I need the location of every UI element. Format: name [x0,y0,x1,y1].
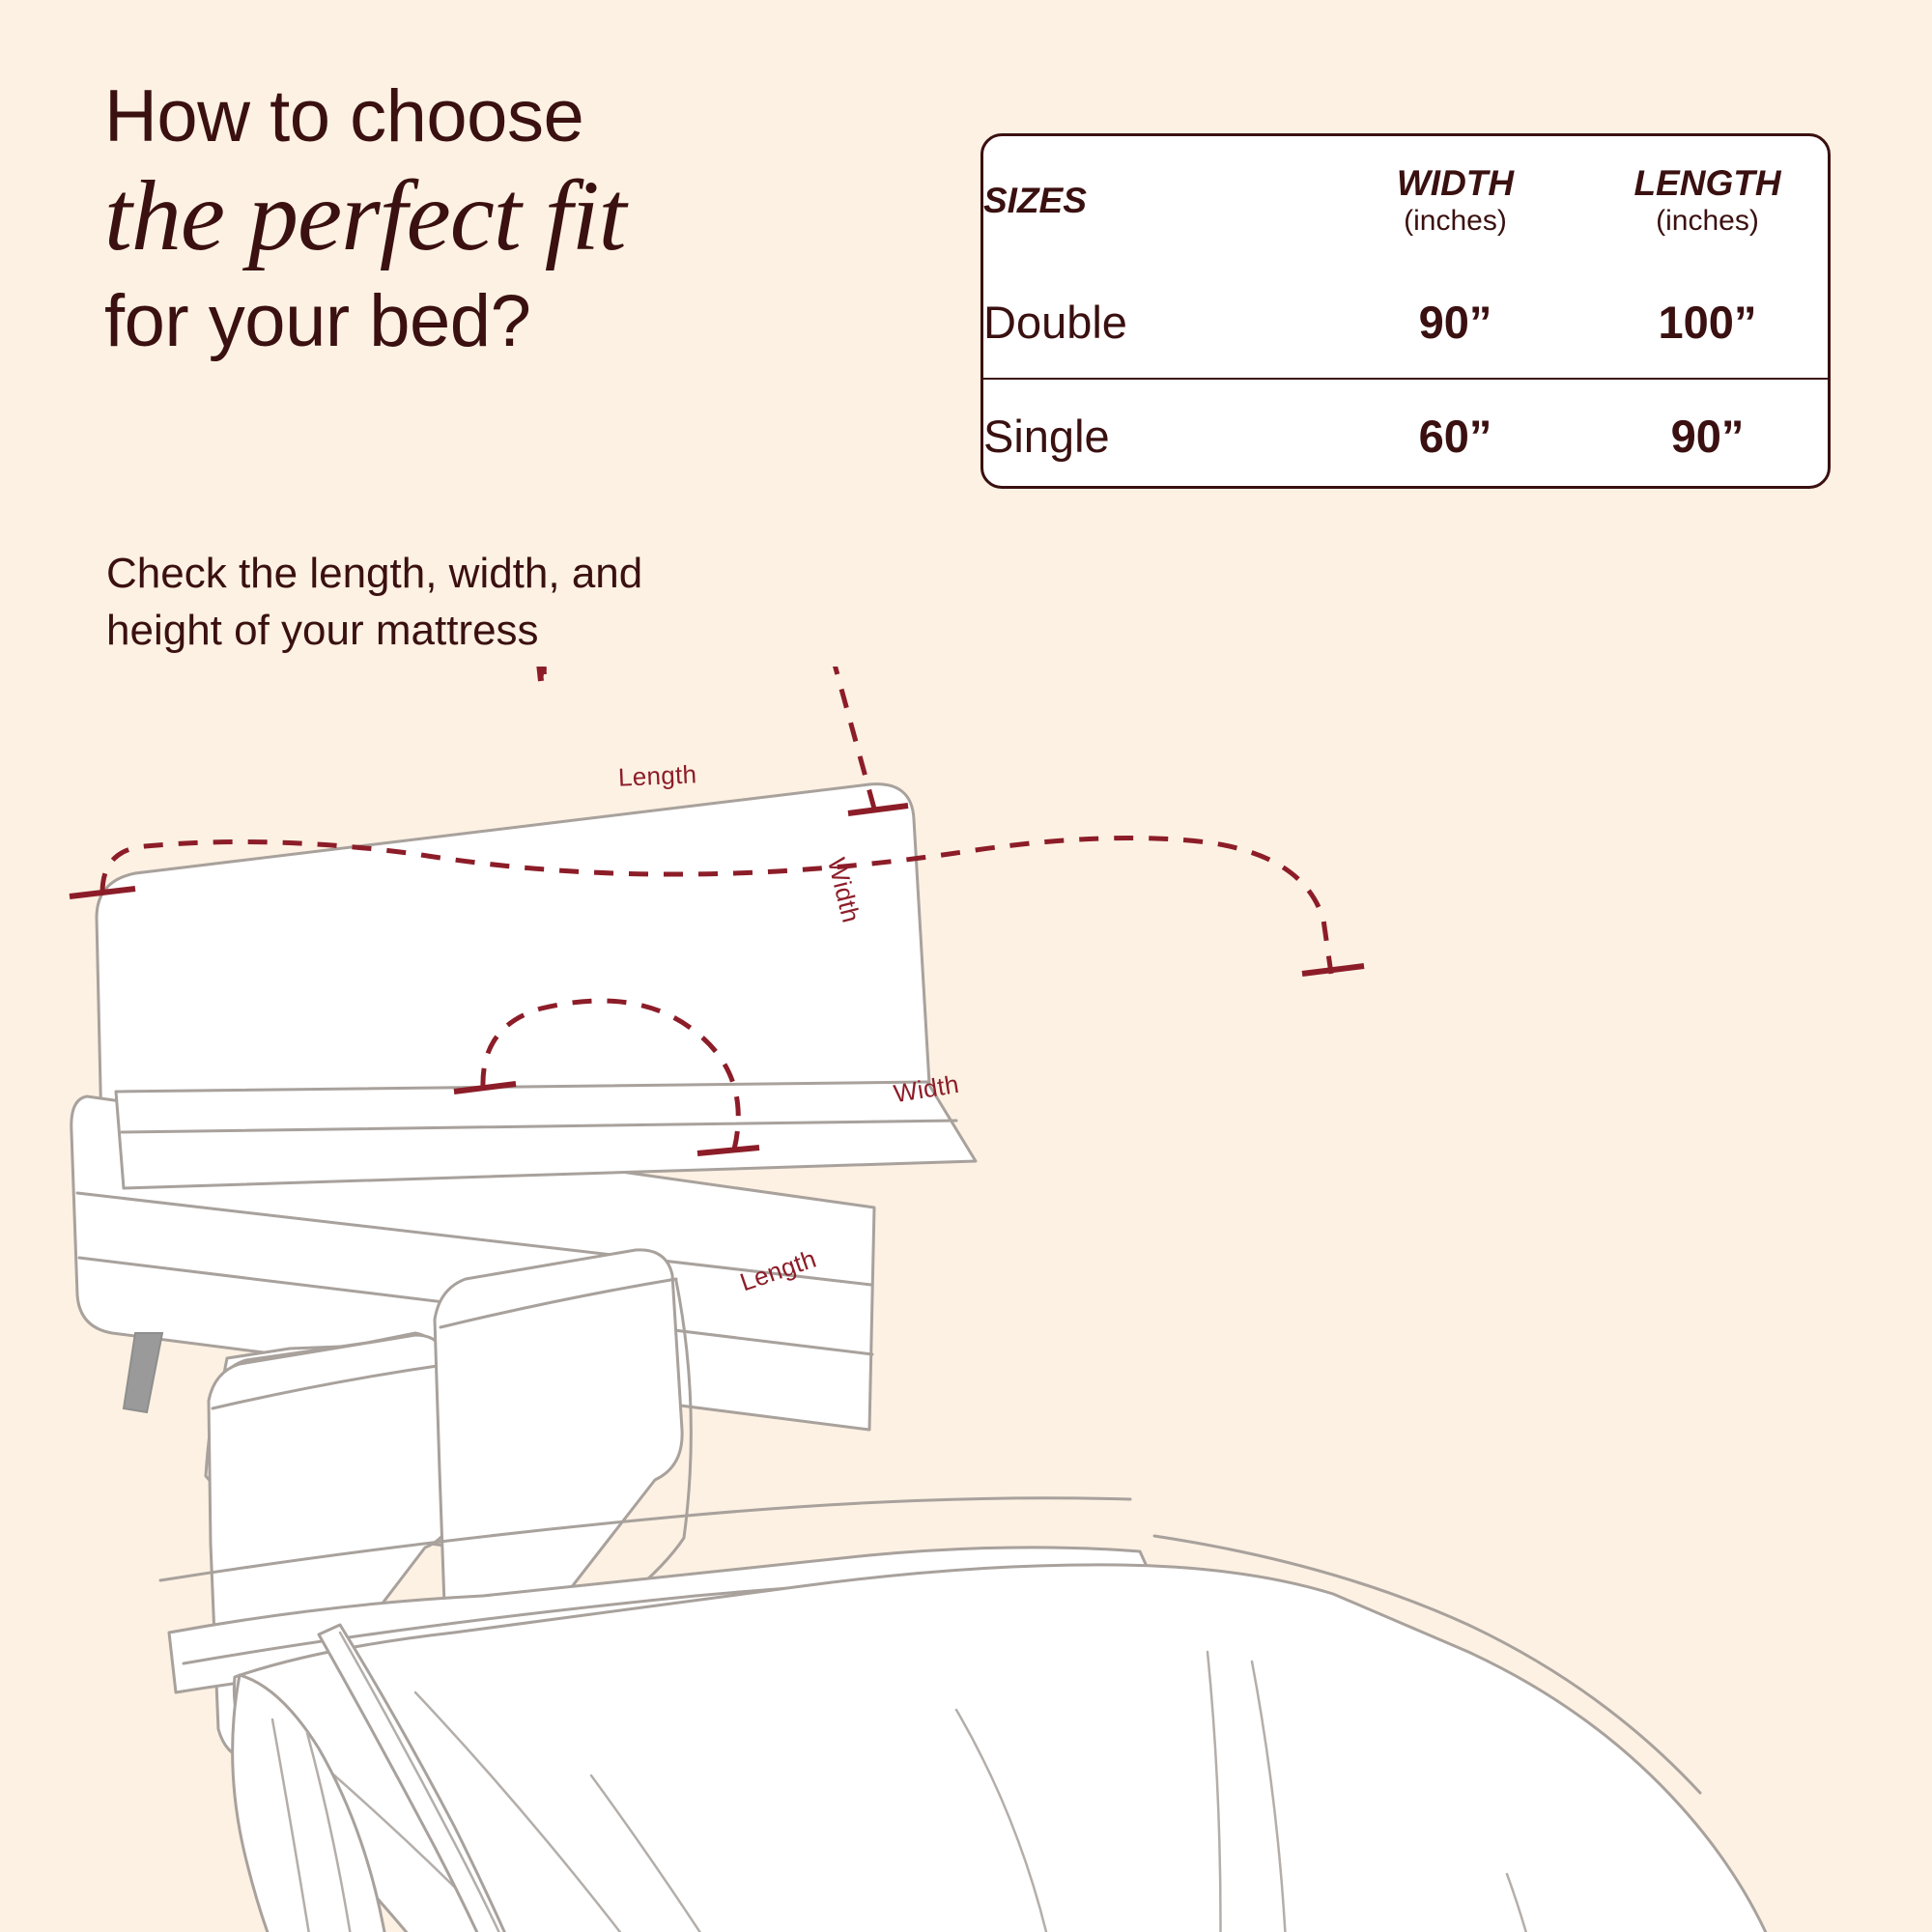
row-size-name: Double [983,266,1329,379]
subtitle-text: Check the length, width, and height of y… [106,546,763,659]
infographic-canvas: How to choose the perfect fit for your b… [0,0,1932,1932]
title-line-3: for your bed? [104,280,896,362]
header-width-unit: (inches) [1329,204,1581,239]
header-width: WIDTH (inches) [1329,136,1581,266]
table-row: Double 90” 100” [983,266,1831,379]
row-length-value: 100” [1581,266,1831,379]
header-length: LENGTH (inches) [1581,136,1831,266]
header-sizes: SIZES [983,136,1329,266]
headboard [97,784,929,1130]
row-width-value: 60” [1329,379,1581,489]
table-header-row: SIZES WIDTH (inches) LENGTH (inches) [983,136,1831,266]
mattress-end [116,1082,976,1188]
header-length-main: LENGTH [1581,163,1831,203]
size-chart-table: SIZES WIDTH (inches) LENGTH (inches) Dou… [980,133,1831,489]
dimension-label-pillow-length: Length [617,759,697,793]
table-row: Single 60” 90” [983,379,1831,489]
title-line-1: How to choose [104,75,896,157]
bed-leg-front [124,1333,162,1412]
page-title: How to choose the perfect fit for your b… [104,75,896,362]
row-width-value: 90” [1329,266,1581,379]
bed-illustration: .ln { fill:none; stroke:#a8a19c; stroke-… [0,667,1932,1932]
header-length-unit: (inches) [1581,204,1831,239]
row-length-value: 90” [1581,379,1831,489]
header-width-main: WIDTH [1329,163,1581,203]
title-line-2-italic: the perfect fit [104,159,896,274]
row-size-name: Single [983,379,1329,489]
pillow-length-dimension [533,667,817,681]
bed-wid-tick-right [1302,966,1364,974]
